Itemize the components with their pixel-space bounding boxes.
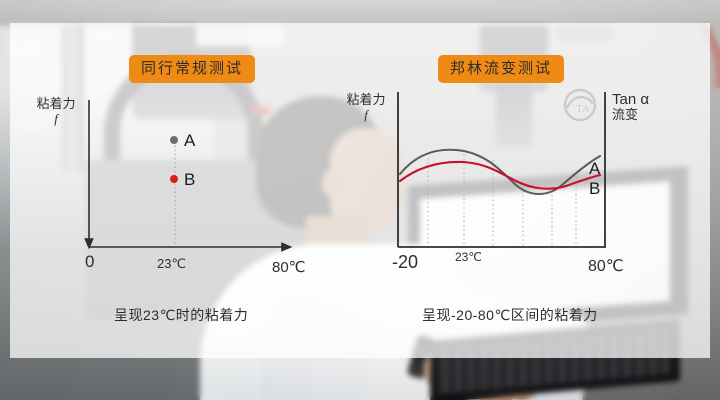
left-point-a-dot [170,136,178,144]
left-point-b-dot [170,175,178,183]
left-y-axis-title-text: 粘着力 [36,96,75,111]
left-xtick-23c: 23℃ [157,256,186,272]
charts-vector-layer [0,0,720,400]
badge-bonglin-rheology-test[interactable]: 邦林流变测试 [438,55,564,83]
right-y-axis-title-text: 粘着力 [346,92,385,107]
left-xtick-80c: 80℃ [272,258,306,276]
right-xtick-23c: 23℃ [455,250,482,264]
left-point-a-label: A [184,132,195,149]
badge-conventional-test[interactable]: 同行常规测试 [129,55,255,83]
right-y2-axis-title: Tan α 流变 [612,92,692,122]
left-caption: 呈现23℃时的粘着力 [114,305,248,325]
left-xtick-0: 0 [85,252,94,272]
right-series-a-line [400,150,600,194]
right-series-b-line [400,162,600,189]
right-xtick-minus20: -20 [392,252,418,273]
left-point-b-label: B [184,171,195,188]
right-gridlines [428,150,576,246]
ta-watermark-text: TA [576,103,590,115]
right-y2-axis-title-text: Tan α [612,91,649,108]
infographic-content: 同行常规测试 粘着力 f A B 0 23℃ 80℃ 呈现23℃时的粘着力 邦林… [0,0,720,400]
right-series-b-label: B [589,180,600,197]
right-series-a-label: A [589,160,600,177]
left-y-axis-title: 粘着力 f [26,96,86,126]
right-caption: 呈现-20-80℃区间的粘着力 [422,305,598,325]
right-y-axis-symbol: f [336,107,396,122]
right-xtick-80c: 80℃ [588,256,624,276]
left-y-axis-symbol: f [26,111,86,126]
ta-watermark-logo: TA [563,88,597,122]
right-y-axis-title: 粘着力 f [336,92,396,122]
right-y2-axis-subtitle: 流变 [612,107,692,122]
